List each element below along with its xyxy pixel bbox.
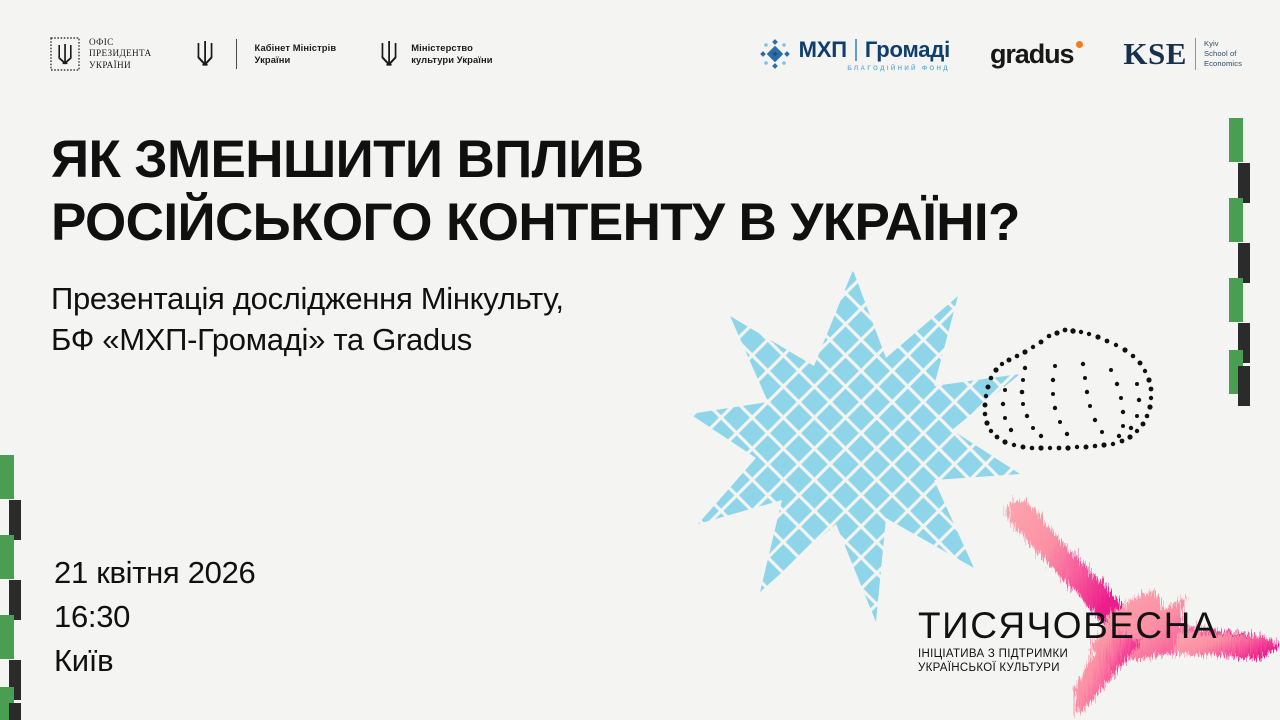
kse-subtitle: Kyiv School of Economics [1204, 39, 1242, 69]
logo-cabinet-of-ministers: Кабінет Міністрів України [192, 30, 337, 78]
ladder-block-green [1229, 198, 1243, 242]
pink-bird-decoration [955, 485, 1280, 720]
gradus-dot-icon [1076, 41, 1083, 48]
partner-logos: МХП Громаді БЛАГОДІЙНИЙ ФОНД gradus KSE … [759, 26, 1242, 82]
logo-office-of-the-president: ОФІС ПРЕЗИДЕНТА УКРАЇНИ [50, 30, 152, 78]
logo-gradus: gradus [990, 39, 1083, 70]
ladder-block-dark [1238, 366, 1250, 406]
tryzub-icon [376, 37, 402, 71]
page-title: ЯК ЗМЕНШИТИ ВПЛИВ РОСІЙСЬКОГО КОНТЕНТУ В… [51, 128, 1020, 254]
dotted-shell-decoration [965, 318, 1175, 463]
logo-bar: ОФІС ПРЕЗИДЕНТА УКРАЇНИ Кабінет Міністрі… [0, 26, 1280, 82]
kse-divider [1195, 38, 1196, 70]
event-details: 21 квітня 2026 16:30 Київ [54, 551, 256, 683]
mhp-divider [855, 39, 857, 61]
logo-ministry-of-culture: Міністерство культури України [376, 30, 492, 78]
poster-canvas: ОФІС ПРЕЗИДЕНТА УКРАЇНИ Кабінет Міністрі… [0, 0, 1280, 720]
tysyachovesna-tagline: ІНІЦІАТИВА З ПІДТРИМКИ УКРАЇНСЬКОЇ КУЛЬТ… [918, 648, 1238, 675]
event-date: 21 квітня 2026 [54, 551, 256, 595]
ladder-block-green [1229, 118, 1243, 162]
ladder-block-dark [9, 580, 21, 620]
mhp-secondary-text: Громаді [865, 37, 950, 63]
mhp-ornament-icon [759, 38, 791, 70]
logo-divider [236, 39, 237, 69]
ladder-block-dark [9, 703, 21, 720]
tysyachovesna-wordmark: ТИСЯЧОВЕСНА [918, 606, 1238, 646]
page-subtitle: Презентація дослідження Мінкульту, БФ «М… [51, 278, 564, 360]
logo-office-of-the-president-text: ОФІС ПРЕЗИДЕНТА УКРАЇНИ [89, 37, 152, 72]
event-city: Київ [54, 639, 256, 683]
ladder-block-dark [1238, 243, 1250, 283]
mhp-brand-text: МХП [799, 37, 847, 63]
ladder-block-green [0, 535, 14, 579]
mhp-tagline: БЛАГОДІЙНИЙ ФОНД [799, 65, 950, 72]
mhp-wordmark: МХП Громаді БЛАГОДІЙНИЙ ФОНД [799, 37, 950, 72]
tryzub-framed-icon [50, 37, 80, 71]
ladder-block-green [0, 455, 14, 499]
ladder-block-green [1229, 278, 1243, 322]
gradus-wordmark: gradus [990, 39, 1073, 70]
ladder-block-dark [1238, 163, 1250, 203]
logo-tysyachovesna: ТИСЯЧОВЕСНА ІНІЦІАТИВА З ПІДТРИМКИ УКРАЇ… [918, 606, 1238, 675]
government-logos: ОФІС ПРЕЗИДЕНТА УКРАЇНИ Кабінет Міністрі… [50, 26, 493, 82]
kse-wordmark: KSE [1123, 36, 1187, 72]
logo-cabinet-of-ministers-text: Кабінет Міністрів України [255, 42, 337, 67]
event-time: 16:30 [54, 595, 256, 639]
logo-mhp-gromadi: МХП Громаді БЛАГОДІЙНИЙ ФОНД [759, 37, 950, 72]
logo-kse: KSE Kyiv School of Economics [1123, 36, 1242, 72]
ladder-block-green [0, 615, 14, 659]
tryzub-icon [192, 37, 218, 71]
mhp-wordmark-row: МХП Громаді [799, 37, 950, 63]
logo-ministry-of-culture-text: Міністерство культури України [411, 42, 492, 67]
ladder-block-dark [9, 500, 21, 540]
right-edge-block-pattern [1200, 118, 1280, 398]
